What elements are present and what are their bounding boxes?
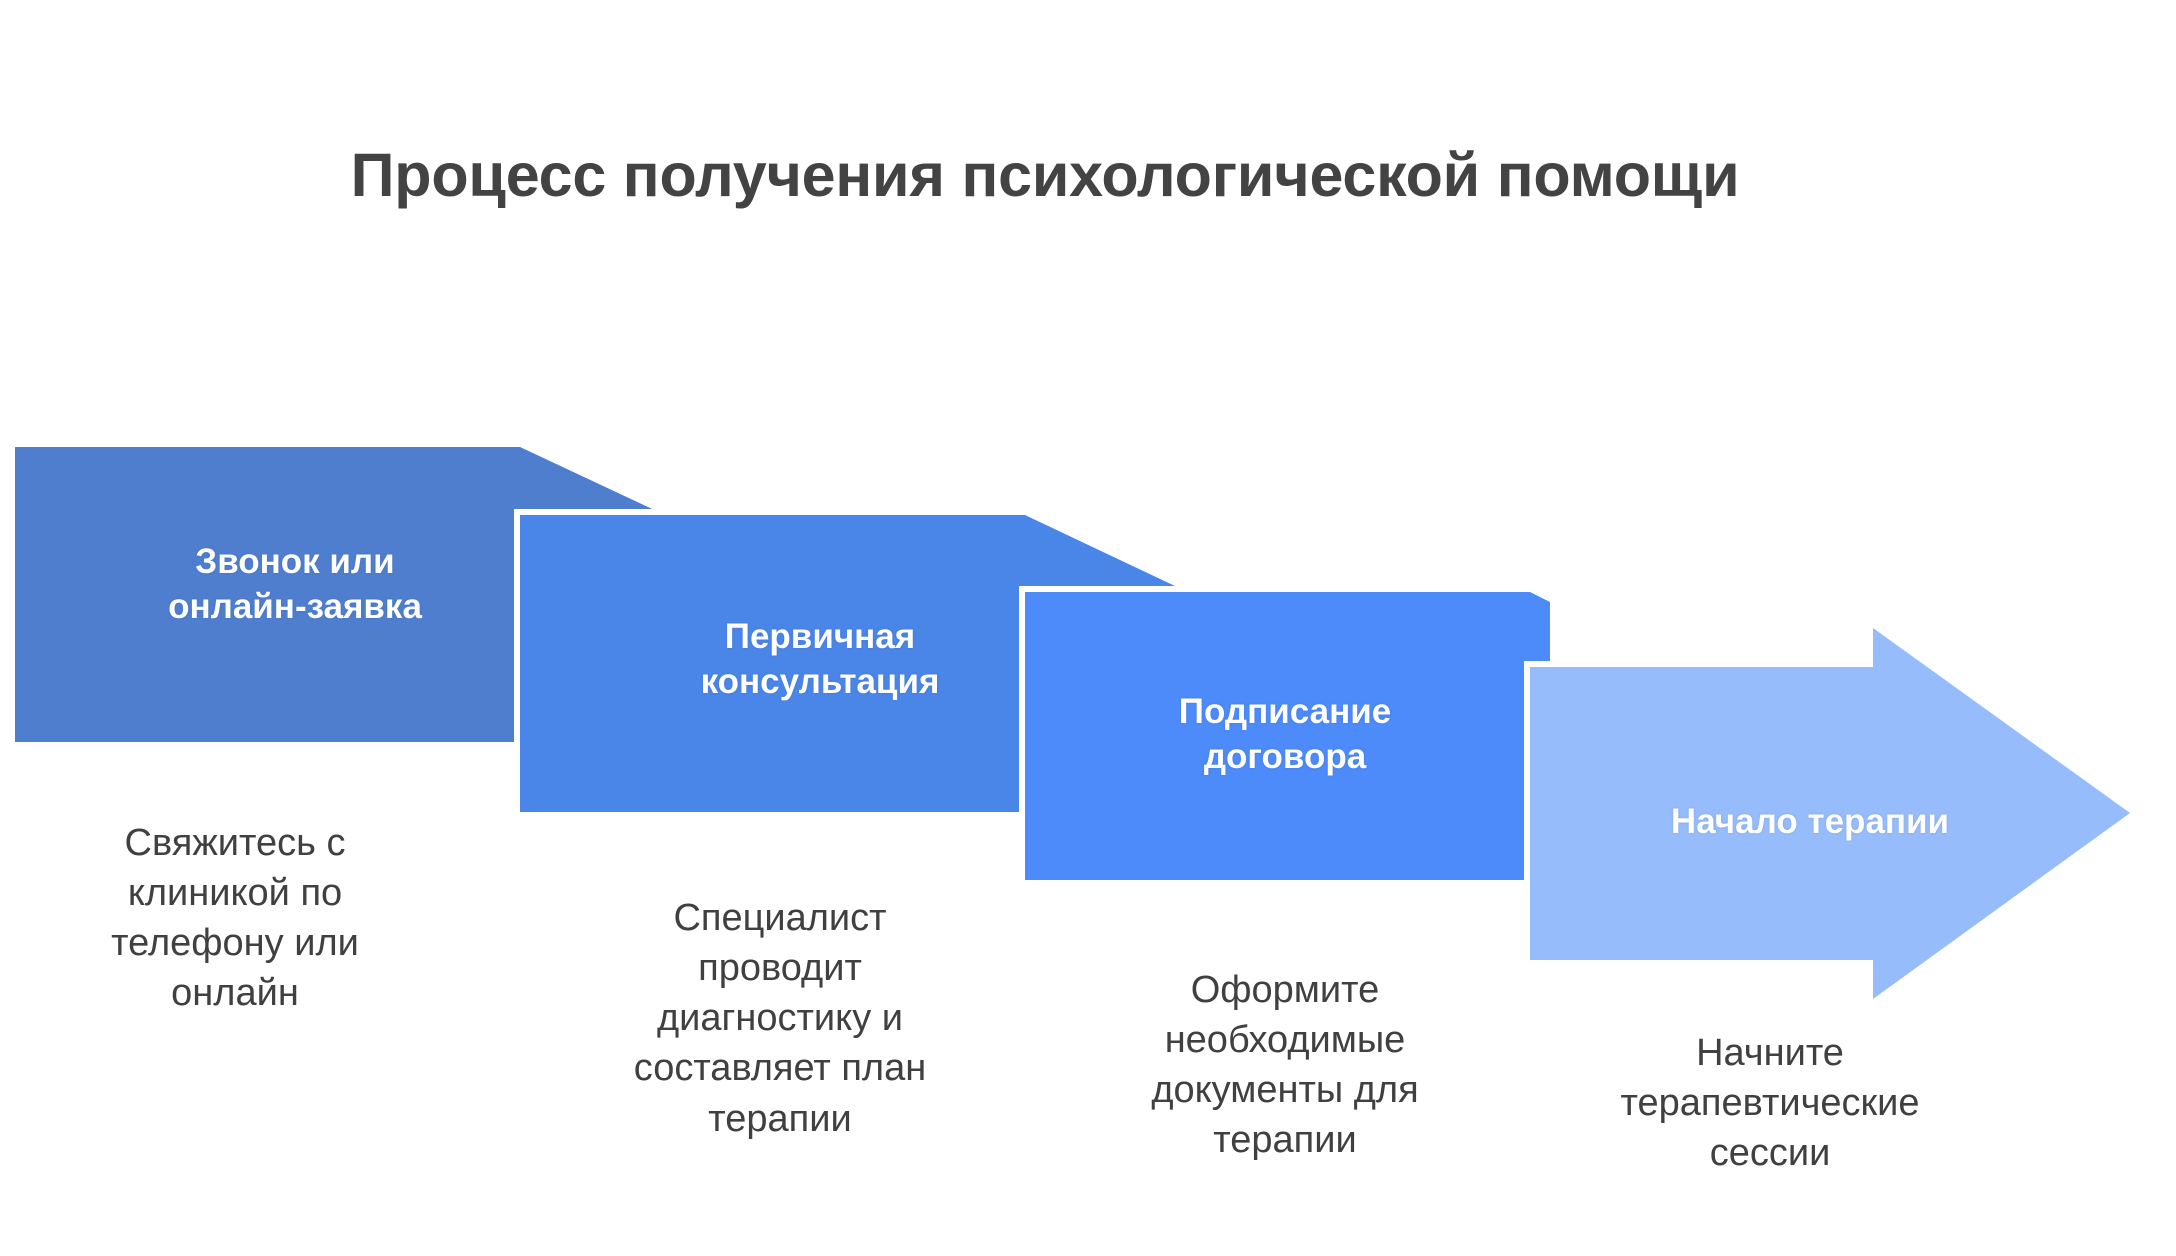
process-step-label-4: Начало терапии [1530, 800, 2090, 845]
process-step-caption-4: Начните терапевтические сессии [1560, 1028, 1980, 1178]
process-step-caption-2: Специалист проводит диагностику и состав… [565, 893, 995, 1144]
process-step-label-1: Звонок или онлайн-заявка [15, 540, 575, 630]
process-step-caption-3: Оформите необходимые документы для терап… [1085, 965, 1485, 1166]
process-step-caption-1: Свяжитесь с клиникой по телефону или онл… [35, 818, 435, 1019]
process-step-label-3: Подписание договора [1030, 690, 1540, 780]
page-title: Процесс получения психологической помощи [0, 140, 2090, 210]
